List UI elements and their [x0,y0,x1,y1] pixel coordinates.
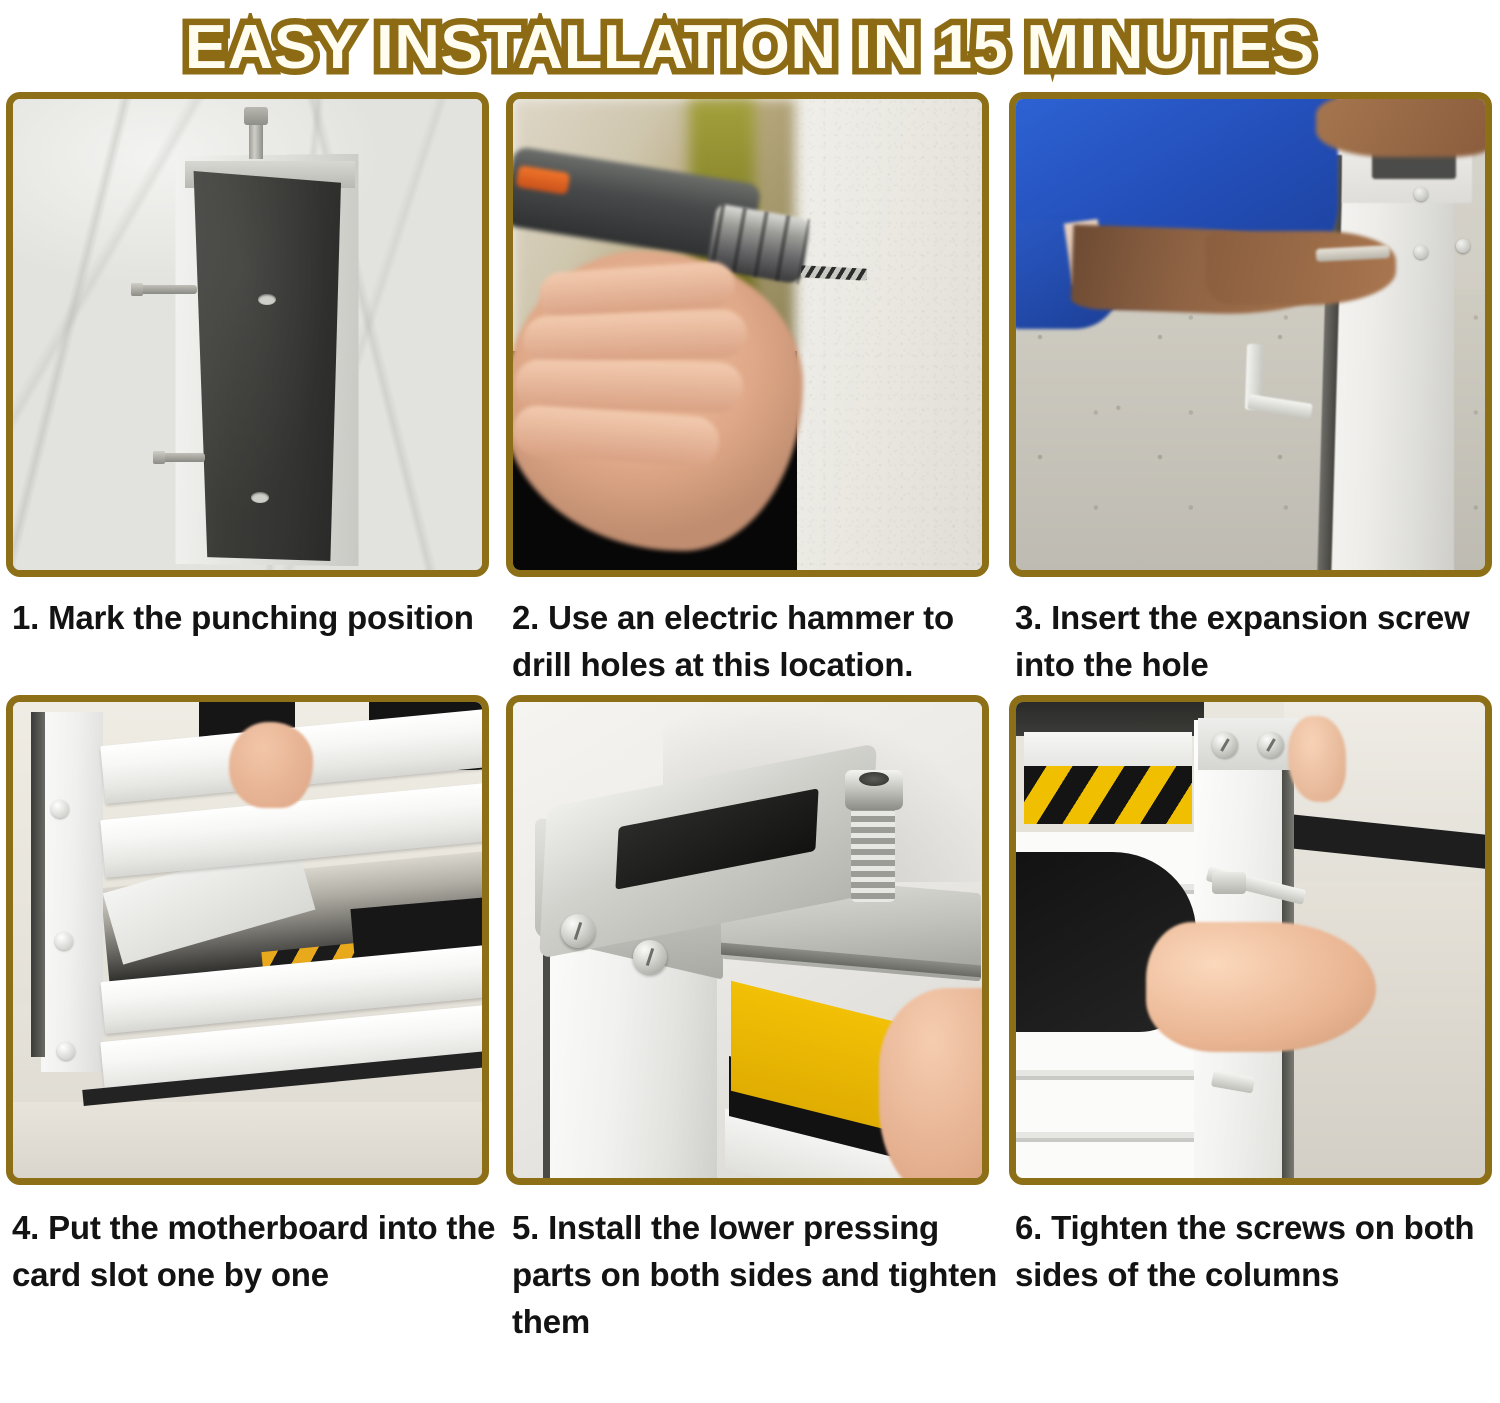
stud-upper [131,285,197,294]
mounting-hole-upper [258,294,276,305]
step-5-caption: 5. Install the lower pressing parts on b… [506,1185,1006,1346]
finger-3 [515,359,744,413]
step-6-photo-frame [1009,695,1492,1185]
stud-upper-cap [131,283,143,296]
step-2: 2. Use an electric hammer to drill holes… [506,92,1006,695]
step-2-photo-frame [506,92,989,577]
bracket-screw-2 [633,940,667,974]
stud-lower-cap [153,451,165,464]
step-1-photo-frame [6,92,489,577]
column-dark-face [189,171,341,561]
photo-mark-punching-position [13,99,482,570]
step-5-photo-frame [506,695,989,1185]
worker-hand [1206,231,1396,305]
mounting-hole-lower [251,492,269,503]
second-hand-thumb [1288,716,1346,802]
top-screw-right [1258,732,1284,758]
top-bolt-head [244,107,268,125]
worker-second-hand [1316,99,1485,157]
dark-top-band [1016,702,1204,736]
step-4-caption: 4. Put the motherboard into the card slo… [6,1185,503,1303]
step-4: 4. Put the motherboard into the card slo… [6,695,503,1346]
bracket-screw-1 [561,914,595,948]
finger-2 [522,309,748,365]
step-3-photo-frame [1009,92,1492,577]
photo-install-pressing-parts [513,702,982,1178]
step-1: 1. Mark the punching position [6,92,503,695]
column-screw-c [1414,245,1428,259]
hand-supporting-board [879,988,982,1178]
step-3: 3. Insert the expansion screw into the h… [1009,92,1500,695]
post-screw-3 [57,1042,75,1060]
title-banner: EASY INSTALLATION IN 15 MINUTES [0,0,1500,92]
step-3-caption: 3. Insert the expansion screw into the h… [1009,577,1500,695]
photo-drill-holes [513,99,982,570]
step-5: 5. Install the lower pressing parts on b… [506,695,1006,1346]
installation-steps-grid: 1. Mark the punching position 2. Use [0,92,1500,1346]
hand-placing-board [229,722,313,808]
floor-surface [13,1102,482,1178]
hazard-stripe [1024,766,1192,824]
top-screw-left [1212,732,1238,758]
post-screw-2 [55,932,73,950]
step-2-caption: 2. Use an electric hammer to drill holes… [506,577,1006,695]
step-6: 6. Tighten the screws on both sides of t… [1009,695,1500,1346]
hand-tightening [1146,922,1376,1052]
step-6-caption: 6. Tighten the screws on both sides of t… [1009,1185,1500,1303]
photo-insert-expansion-screw [1016,99,1485,570]
wall-surface [795,99,982,570]
screwdriver-head [1212,872,1246,894]
stud-lower [153,453,205,462]
photo-tighten-screws [1016,702,1485,1178]
column-screw-b [1456,239,1470,253]
post-dark-edge [31,712,45,1057]
post-screw-1 [51,800,69,818]
bolt-socket-hole [859,772,889,786]
white-post [41,712,103,1072]
board-above-hazard [1024,732,1192,770]
step-1-caption: 1. Mark the punching position [6,577,503,695]
step-4-photo-frame [6,695,489,1185]
page-title: EASY INSTALLATION IN 15 MINUTES [185,17,1315,79]
column-screw-a [1414,187,1428,201]
photo-insert-motherboard [13,702,482,1178]
column-edge-line [543,938,550,1178]
